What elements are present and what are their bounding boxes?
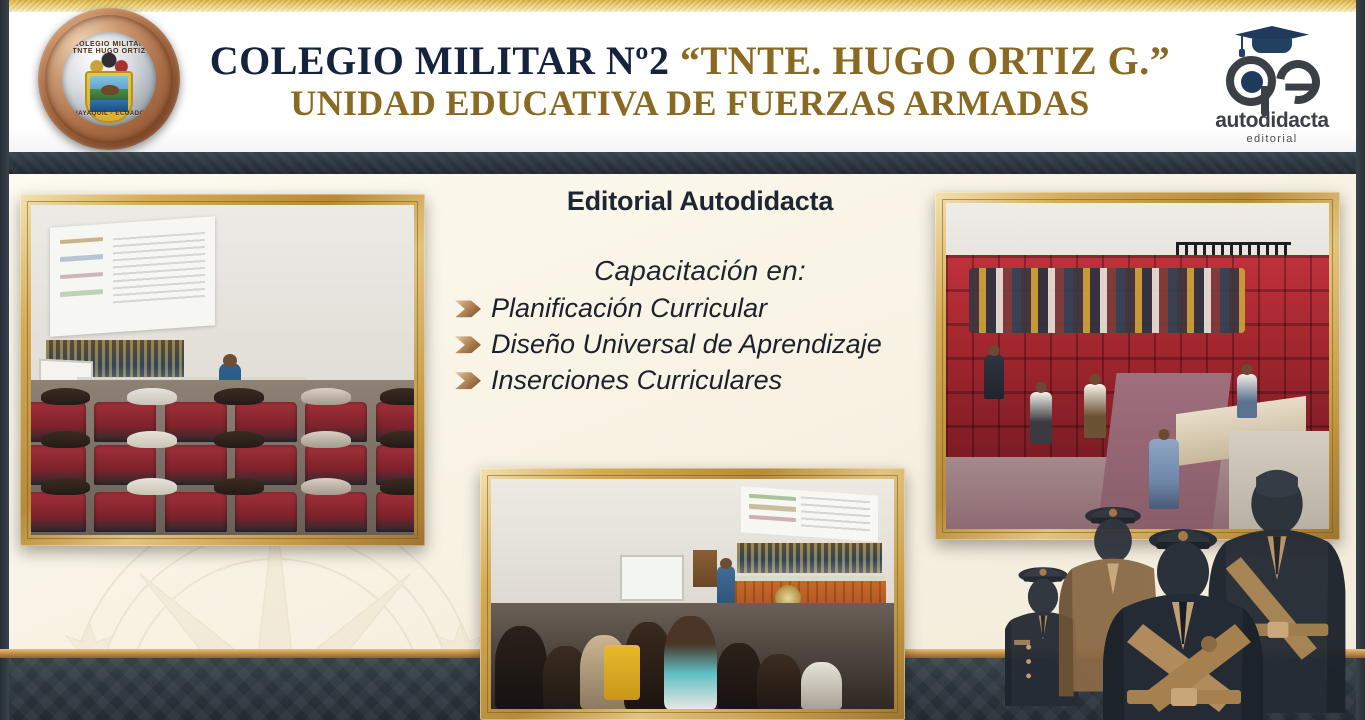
photo-image: [946, 203, 1329, 529]
slide-canvas: COLEGIO MILITAR "TNTE HUGO ORTIZ" GUAYAQ…: [0, 0, 1365, 720]
publisher-tagline: editorial: [1246, 133, 1297, 145]
header-titles: COLEGIO MILITAR Nº2 “TNTE. HUGO ORTIZ G.…: [190, 12, 1190, 152]
school-crest-icon: COLEGIO MILITAR "TNTE HUGO ORTIZ" GUAYAQ…: [38, 8, 180, 150]
training-topics-list: Planificación Curricular Diseño Universa…: [455, 291, 945, 399]
chevron-arrow-icon: [455, 336, 481, 353]
right-edge-border: [1356, 0, 1365, 720]
ae-monogram-icon: [1224, 54, 1320, 110]
content-subheading: Capacitación en:: [455, 255, 945, 287]
slide-header: COLEGIO MILITAR "TNTE HUGO ORTIZ" GUAYAQ…: [0, 12, 1365, 152]
photo-auditorium-presenter-left: [20, 194, 425, 546]
page-title: COLEGIO MILITAR Nº2 “TNTE. HUGO ORTIZ G.…: [210, 40, 1171, 82]
photo-lecture-hall-bottom: [480, 468, 905, 720]
chevron-arrow-icon: [455, 372, 481, 389]
list-item-label: Inserciones Curriculares: [491, 363, 782, 399]
list-item-label: Planificación Curricular: [491, 291, 767, 327]
list-item: Inserciones Curriculares: [455, 363, 945, 399]
list-item: Diseño Universal de Aprendizaje: [455, 327, 945, 363]
crest-text-bottom: GUAYAQUIL - ECUADOR: [62, 111, 156, 117]
photo-image: [491, 479, 894, 709]
list-item-label: Diseño Universal de Aprendizaje: [491, 327, 882, 363]
autodidacta-logo: autodidacta editorial: [1197, 22, 1347, 150]
content-heading: Editorial Autodidacta: [455, 186, 945, 217]
left-edge-border: [0, 0, 9, 720]
content-text-block: Editorial Autodidacta Capacitación en: P…: [455, 186, 945, 399]
chevron-arrow-icon: [455, 300, 481, 317]
graduation-cap-icon: [1235, 22, 1309, 54]
publisher-name: autodidacta: [1215, 110, 1328, 131]
photo-image: [31, 205, 414, 535]
gold-accent-bar: [0, 0, 1365, 12]
title-school-name: COLEGIO MILITAR Nº2: [210, 38, 680, 83]
photo-auditorium-standing-right: [935, 192, 1340, 540]
header-separator-band: [0, 152, 1365, 174]
list-item: Planificación Curricular: [455, 291, 945, 327]
page-subtitle: UNIDAD EDUCATIVA DE FUERZAS ARMADAS: [290, 84, 1089, 124]
title-honoree-name: “TNTE. HUGO ORTIZ G.”: [680, 38, 1170, 83]
